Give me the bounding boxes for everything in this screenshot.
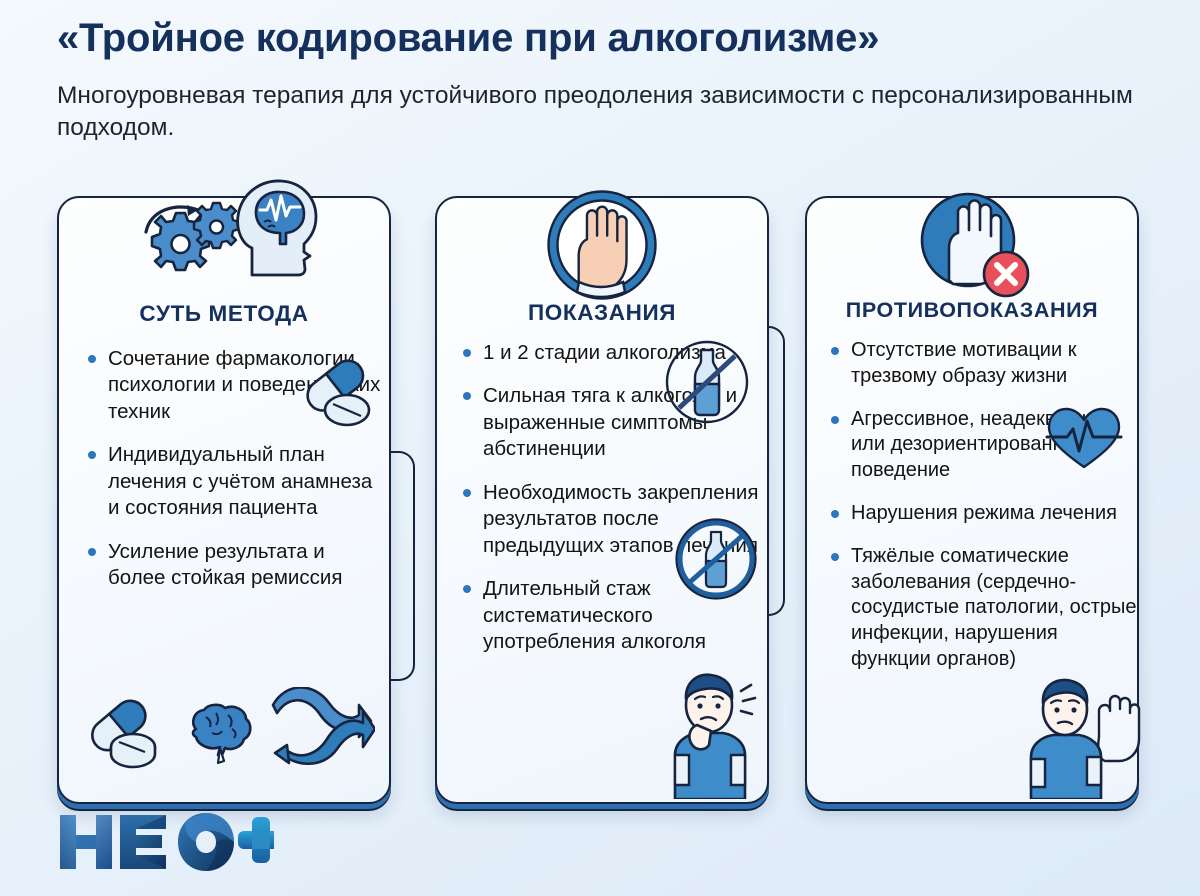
- bullet-list-sut-metoda: Сочетание фармакологии, психологии и пов…: [86, 346, 382, 609]
- card-pokazaniya[interactable]: ПОКАЗАНИЯ 1 и 2 стадии алкоголизма Сильн…: [435, 196, 769, 804]
- worried-man-icon: [653, 669, 763, 804]
- cards-container: СУТЬ МЕТОДА Сочетание фармакологии, псих…: [0, 196, 1200, 816]
- page-subtitle: Многоуровневая терапия для устойчивого п…: [57, 80, 1157, 145]
- list-item: Длительный стаж систематического употреб…: [461, 576, 761, 655]
- list-item: Агрессивное, неадекватное или дезориенти…: [829, 407, 1141, 484]
- page-header: «Тройное кодирование при алкоголизме» Мн…: [57, 16, 1157, 144]
- card-title-sut-metoda: СУТЬ МЕТОДА: [59, 301, 389, 327]
- card-sut-metoda[interactable]: СУТЬ МЕТОДА Сочетание фармакологии, псих…: [57, 196, 391, 804]
- list-item: Нарушения режима лечения: [829, 501, 1141, 527]
- card1-bottom-icon-row: [85, 687, 375, 774]
- card-title-protivopokazaniya: ПРОТИВОПОКАЗАНИЯ: [807, 298, 1137, 323]
- stop-hand-prohibition-icon: [437, 186, 767, 304]
- list-item: Сочетание фармакологии, психологии и пов…: [86, 346, 382, 425]
- connector-card1-card2: [389, 451, 415, 681]
- pill-tablet-icon: [85, 695, 169, 774]
- brain-icon: [182, 699, 258, 774]
- list-item: Отсутствие мотивации к трезвому образу ж…: [829, 338, 1141, 390]
- bullet-list-pokazaniya: 1 и 2 стадии алкоголизма Сильная тяга к …: [461, 340, 761, 672]
- card-title-pokazaniya: ПОКАЗАНИЯ: [437, 300, 767, 326]
- page-title: «Тройное кодирование при алкоголизме»: [57, 16, 1157, 61]
- head-brain-gears-icon: [59, 174, 389, 282]
- list-item: Тяжёлые соматические заболевания (сердеч…: [829, 544, 1141, 673]
- list-item: Индивидуальный план лечения с учётом ана…: [86, 442, 382, 521]
- list-item: Необходимость закрепления результатов по…: [461, 480, 761, 559]
- man-raised-hand-icon: [1013, 677, 1143, 804]
- list-item: Усиление результата и более стойкая реми…: [86, 539, 382, 592]
- card-protivopokazaniya[interactable]: ПРОТИВОПОКАЗАНИЯ Отсутствие мотивации к …: [805, 196, 1139, 804]
- neo-plus-logo[interactable]: [58, 811, 274, 878]
- bullet-list-protivopokazaniya: Отсутствие мотивации к трезвому образу ж…: [829, 338, 1141, 690]
- list-item: Сильная тяга к алкоголю и выраженные сим…: [461, 383, 761, 462]
- blue-hand-red-cross-icon: [807, 186, 1137, 302]
- list-item: 1 и 2 стадии алкоголизма: [461, 340, 761, 366]
- shuffle-arrows-icon: [271, 687, 375, 774]
